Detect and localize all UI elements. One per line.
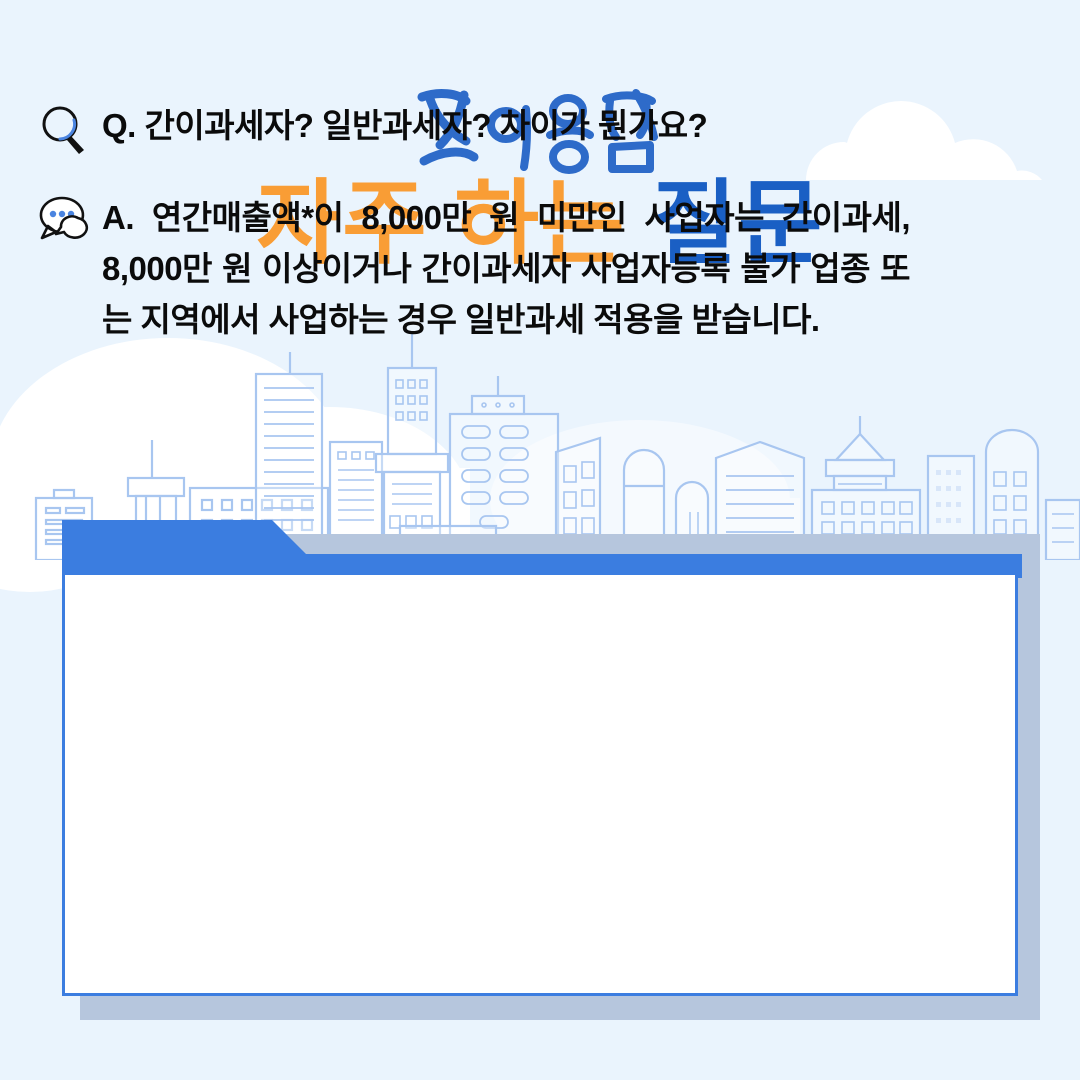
qa-card: [62, 516, 1022, 1002]
qa-card-tab-bar: [62, 516, 1022, 578]
magnifier-icon: [36, 102, 102, 158]
question-text: Q. 간이과세자? 일반과세자? 차이가 뭔가요?: [102, 100, 910, 151]
answer-text: A. 연간매출액*이 8,000만 원 미만인 사업자는 간이과세, 8,000…: [102, 192, 910, 345]
answer-row: A. 연간매출액*이 8,000만 원 미만인 사업자는 간이과세, 8,000…: [36, 192, 910, 345]
qa-card-body: [62, 572, 1018, 996]
qa-content: Q. 간이과세자? 일반과세자? 차이가 뭔가요? A. 연간매출액*이 8,0…: [0, 56, 956, 480]
question-row: Q. 간이과세자? 일반과세자? 차이가 뭔가요?: [36, 100, 910, 158]
speech-bubbles-icon: [36, 194, 102, 250]
